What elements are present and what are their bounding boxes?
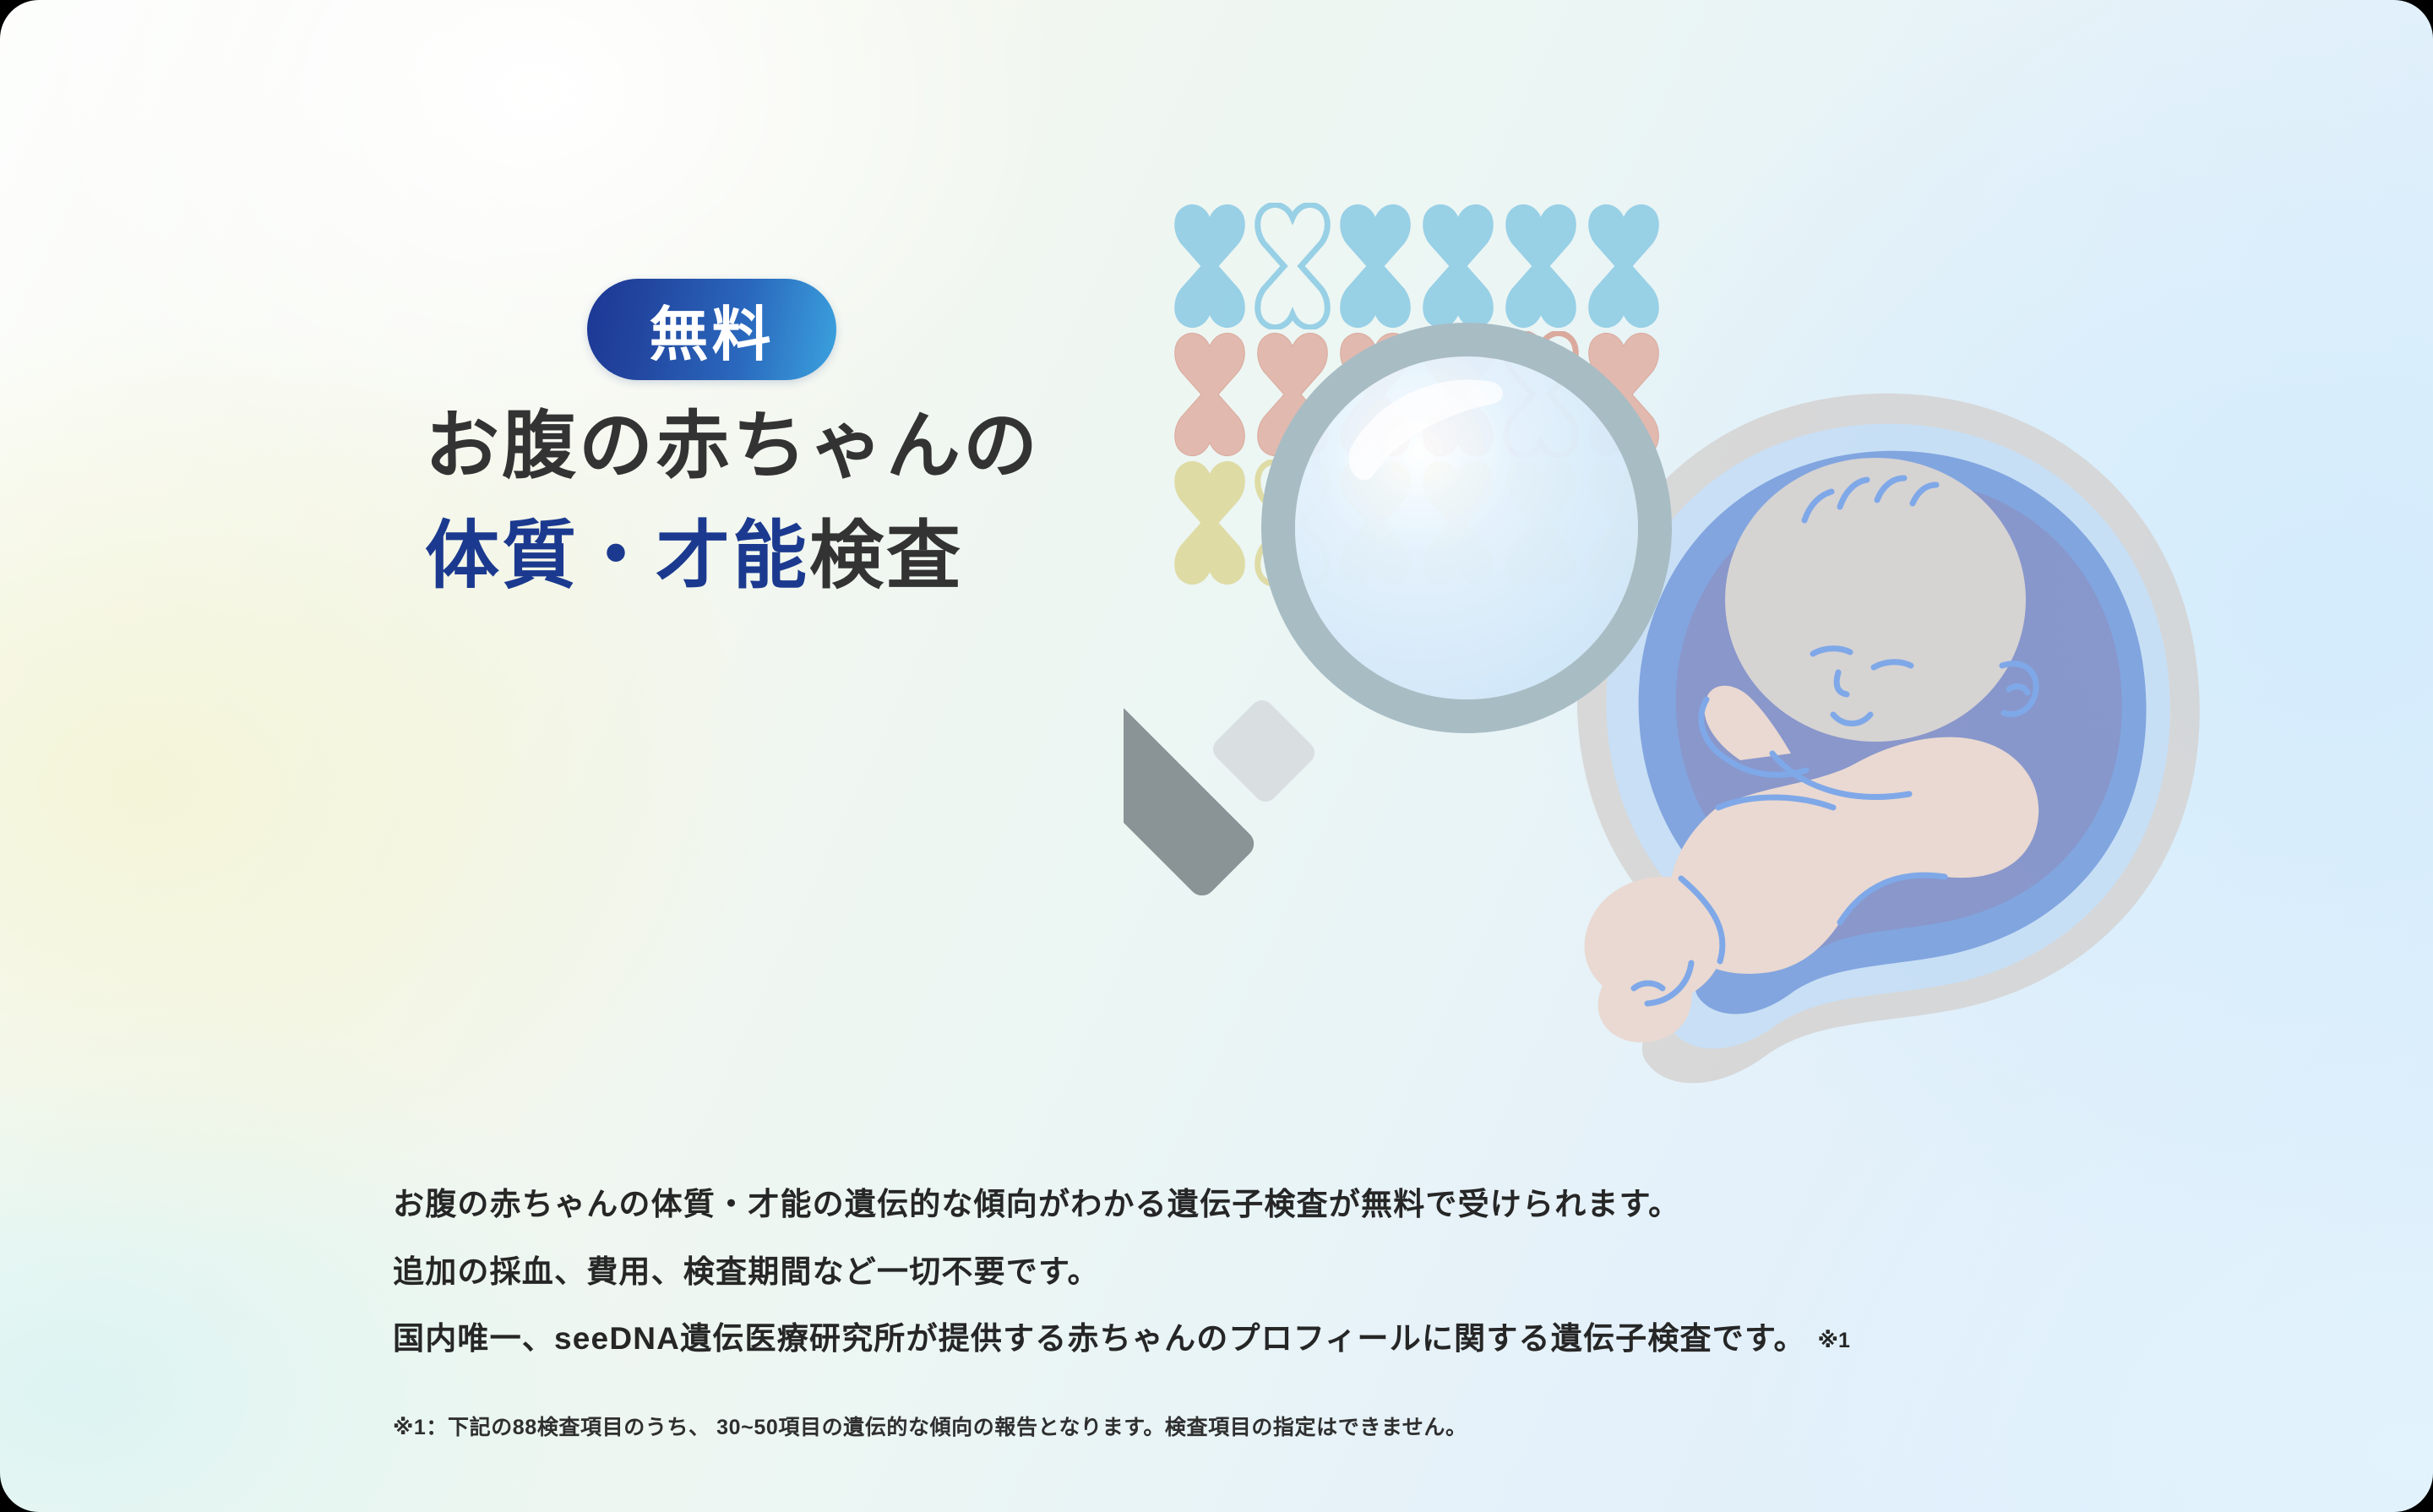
description-line-3: 国内唯一、seeDNA遺伝医療研究所が提供する赤ちゃんのプロフィールに関する遺伝… [393,1321,2209,1357]
description-line-2: 追加の採血、費用、検査期間など一切不要です。 [393,1254,2209,1291]
free-badge: 無料 [587,279,836,380]
page-title-accent: 体質・才能 [425,514,809,597]
page-title-line1: お腹の赤ちゃんの [425,409,1040,483]
promo-card: 無料 お腹の赤ちゃんの 体質・才能検査 お腹の赤ちゃんの体質・才能の遺伝的な傾向… [0,0,2433,1512]
description-block: お腹の赤ちゃんの体質・才能の遺伝的な傾向がわかる遺伝子検査が無料で受けられます。… [393,1187,2209,1357]
description-line-1: お腹の赤ちゃんの体質・才能の遺伝的な傾向がわかる遺伝子検査が無料で受けられます。 [393,1187,2209,1223]
description-line-3-text: 国内唯一、seeDNA遺伝医療研究所が提供する赤ちゃんのプロフィールに関する遺伝… [393,1321,1806,1356]
page-title-line2: 体質・才能検査 [425,519,963,593]
footnote-marker: ※1 [1818,1329,1850,1352]
page-title-suffix: 検査 [809,514,963,597]
footnote-text: ※1：下記の88検査項目のうち、 30~50項目の遺伝的な傾向の報告となります。… [393,1411,1467,1441]
free-badge-label: 無料 [650,287,775,373]
